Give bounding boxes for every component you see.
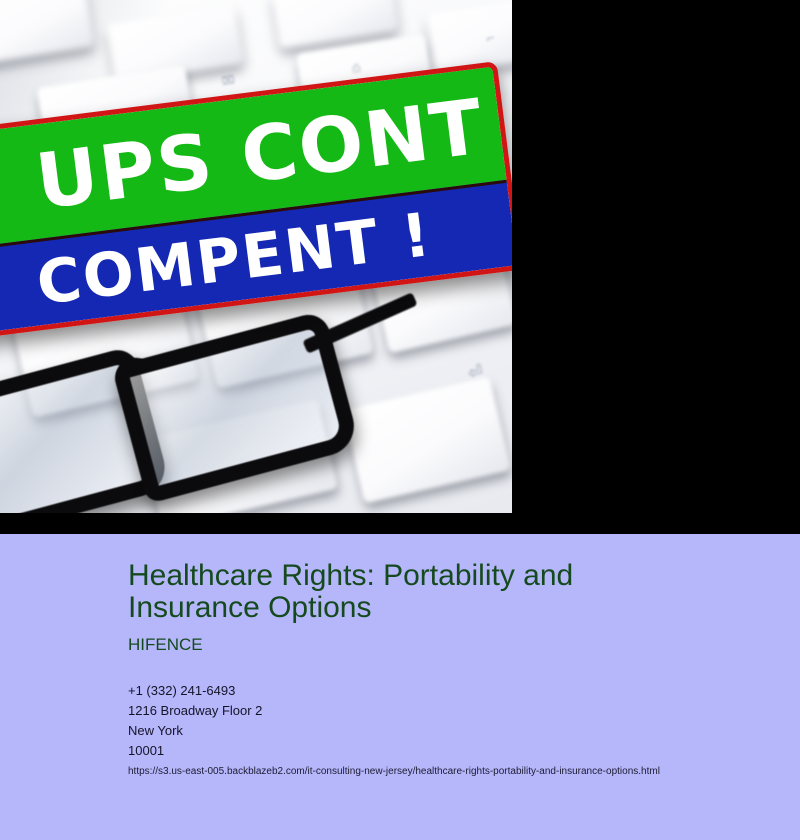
eyeglasses <box>0 350 400 513</box>
page-title: Healthcare Rights: Portability and Insur… <box>128 560 648 625</box>
source-url[interactable]: https://s3.us-east-005.backblazeb2.com/i… <box>128 766 740 777</box>
key-legend-icon: ⏎ <box>466 361 485 385</box>
key-legend-icon: ⌐ <box>485 31 496 45</box>
brand-name: HIFENCE <box>128 635 740 655</box>
contact-phone[interactable]: +1 (332) 241-6493 <box>128 681 740 701</box>
keyboard-key <box>0 0 94 65</box>
page-root: ⌧ ⌦ ⎙ ⌐ ⏎ UPS CONT COMPENT ! <box>0 0 800 840</box>
hero-photo: ⌧ ⌦ ⎙ ⌐ ⏎ UPS CONT COMPENT ! <box>0 0 512 513</box>
info-panel-content: Healthcare Rights: Portability and Insur… <box>0 534 800 777</box>
contact-street: 1216 Broadway Floor 2 <box>128 701 740 721</box>
contact-zip: 10001 <box>128 741 740 761</box>
contact-city: New York <box>128 721 740 741</box>
contact-block: +1 (332) 241-6493 1216 Broadway Floor 2 … <box>128 681 740 777</box>
info-panel: Healthcare Rights: Portability and Insur… <box>0 534 800 840</box>
key-legend-icon: ⌧ <box>221 73 236 88</box>
key-legend-icon: ⎙ <box>351 61 362 76</box>
